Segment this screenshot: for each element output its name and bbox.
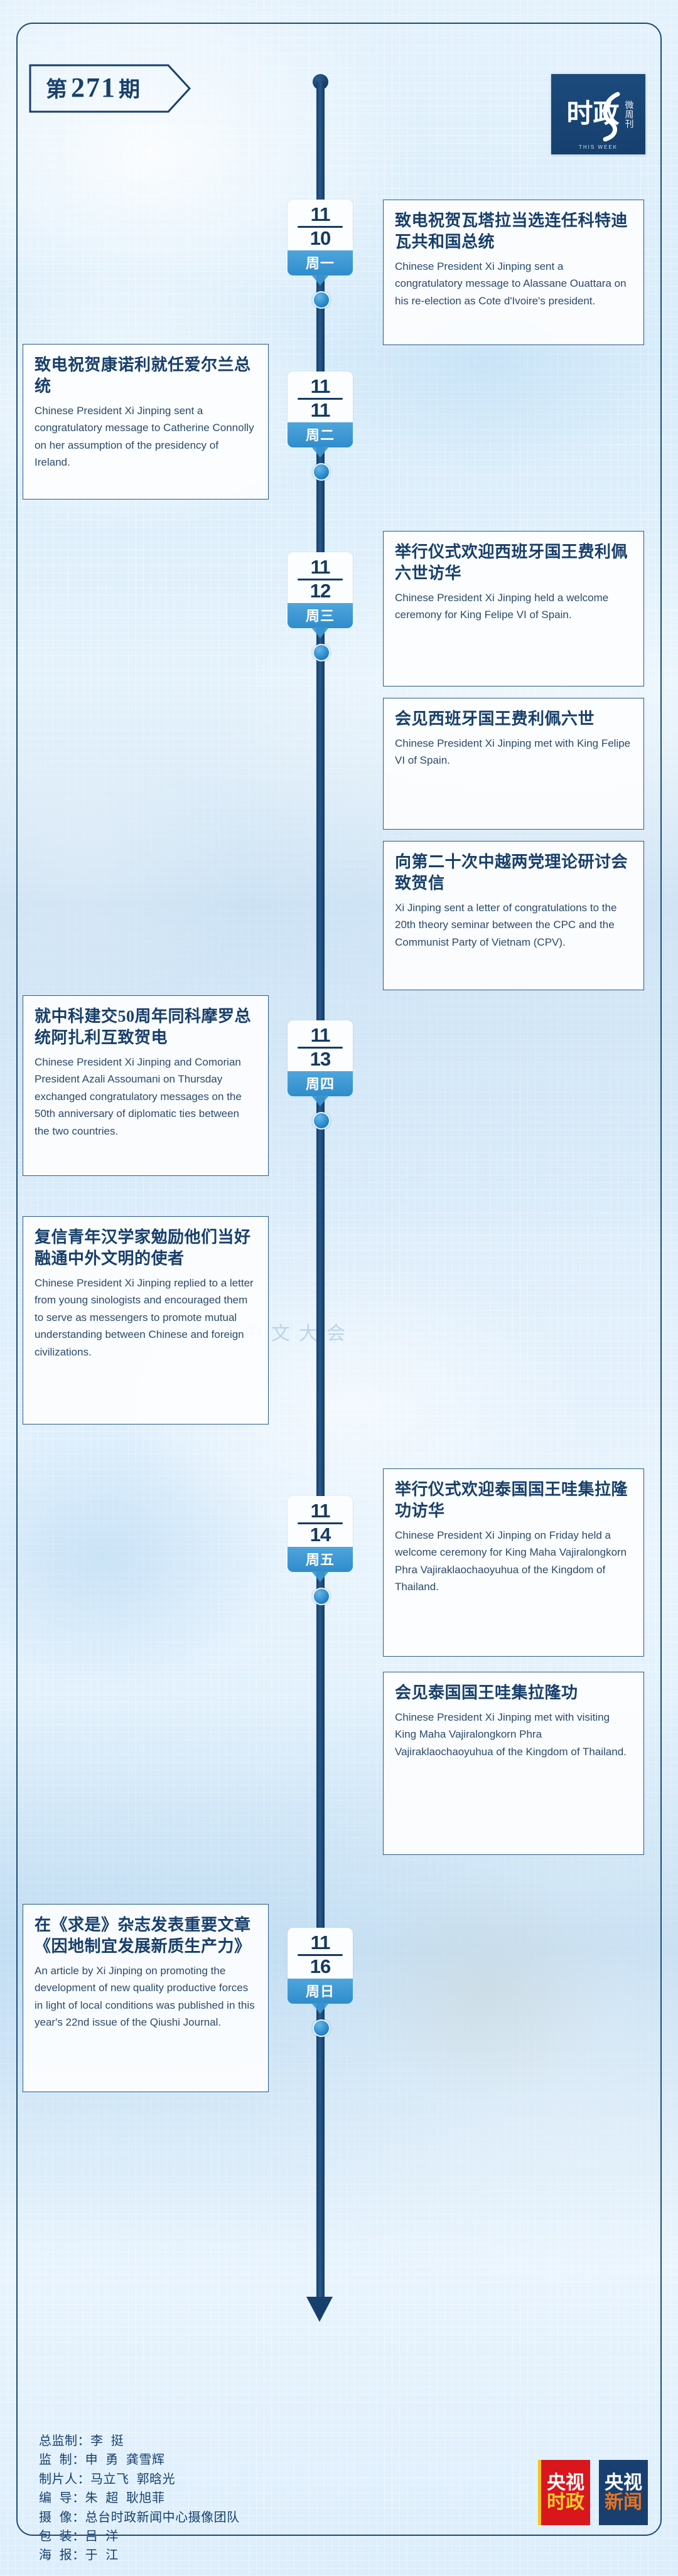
- event-description: Chinese President Xi Jinping on Friday h…: [395, 1527, 632, 1596]
- date-weekday: 周二: [288, 422, 353, 447]
- issue-tag-label: 第271期: [29, 64, 168, 110]
- timeline-node-dot: [313, 1112, 330, 1130]
- brand-logo-en-text: THIS WEEK: [551, 144, 645, 150]
- cctv-shizheng-line1: 央视: [547, 2473, 584, 2493]
- event-card[interactable]: 就中科建交50周年同科摩罗总统阿扎利互致贺电Chinese President …: [23, 995, 269, 1176]
- issue-tag: 第271期: [29, 64, 168, 110]
- event-description: Chinese President Xi Jinping replied to …: [35, 1275, 257, 1361]
- date-badge: 1116周日: [288, 1928, 353, 2004]
- date-badge-top: 1111: [288, 371, 353, 422]
- event-title: 就中科建交50周年同科摩罗总统阿扎利互致贺电: [35, 1006, 257, 1049]
- event-title: 会见泰国国王哇集拉隆功: [395, 1682, 632, 1704]
- event-description: Chinese President Xi Jinping held a welc…: [395, 589, 632, 624]
- date-month: 11: [294, 377, 347, 397]
- event-title: 会见西班牙国王费利佩六世: [395, 708, 632, 730]
- date-month: 11: [294, 557, 347, 577]
- event-description: Chinese President Xi Jinping met with vi…: [395, 1709, 632, 1761]
- date-badge-pointer-icon: [311, 2003, 329, 2014]
- event-title: 举行仪式欢迎西班牙国王费利佩六世访华: [395, 542, 632, 584]
- credit-line: 包 装：吕 洋: [39, 2527, 441, 2546]
- date-day: 13: [294, 1049, 347, 1069]
- event-title: 致电祝贺康诺利就任爱尔兰总统: [35, 355, 257, 397]
- issue-number: 271: [68, 72, 119, 104]
- date-badge-pointer-icon: [311, 447, 329, 457]
- date-day: 14: [294, 1525, 347, 1545]
- event-title: 复信青年汉学家勉励他们当好融通中外文明的使者: [35, 1227, 257, 1269]
- credit-line: 海 报：于 江: [39, 2546, 441, 2565]
- date-day: 10: [294, 228, 347, 249]
- credits-block: 总监制：李 挺监 制：申 勇 龚雪辉制片人：马立飞 郭晗光编 导：朱 超 耿旭菲…: [39, 2432, 441, 2565]
- credit-line: 总监制：李 挺: [39, 2432, 441, 2450]
- date-month: 11: [294, 205, 347, 225]
- date-badge-top: 1112: [288, 552, 353, 603]
- event-card[interactable]: 会见西班牙国王费利佩六世Chinese President Xi Jinping…: [383, 698, 644, 830]
- date-month: 11: [294, 1501, 347, 1521]
- date-badge-top: 1113: [288, 1020, 353, 1071]
- date-weekday: 周三: [288, 603, 353, 628]
- event-card[interactable]: 向第二十次中越两党理论研讨会致贺信Xi Jinping sent a lette…: [383, 841, 644, 990]
- brand-logo-main-text: 时政: [562, 102, 619, 127]
- brand-logo-side-text: 微周刊: [623, 100, 633, 129]
- credit-line: 制片人：马立飞 郭晗光: [39, 2470, 441, 2489]
- timeline-node-dot: [313, 463, 330, 481]
- event-description: Chinese President Xi Jinping sent a cong…: [395, 258, 632, 310]
- event-title: 举行仪式欢迎泰国国王哇集拉隆功访华: [395, 1479, 632, 1522]
- brand-logo: 时政 微周刊 THIS WEEK: [551, 74, 645, 154]
- cctv-xinwen-line2: 新闻: [605, 2493, 642, 2512]
- event-description: Chinese President Xi Jinping and Comoria…: [35, 1054, 257, 1140]
- cctv-xinwen-line1: 央视: [605, 2473, 642, 2493]
- date-badge-pointer-icon: [311, 1571, 329, 1582]
- date-weekday: 周日: [288, 1979, 353, 2004]
- event-title: 在《求是》杂志发表重要文章《因地制宜发展新质生产力》: [35, 1915, 257, 1957]
- event-description: Chinese President Xi Jinping sent a cong…: [35, 402, 257, 471]
- timeline-node-dot: [313, 291, 330, 309]
- issue-suffix: 期: [119, 72, 141, 103]
- date-day: 16: [294, 1957, 347, 1977]
- event-description: An article by Xi Jinping on promoting th…: [35, 1962, 257, 2031]
- date-badge: 1113周四: [288, 1020, 353, 1096]
- event-card[interactable]: 复信青年汉学家勉励他们当好融通中外文明的使者Chinese President …: [23, 1216, 269, 1424]
- date-day: 11: [294, 400, 347, 420]
- issue-prefix: 第: [46, 72, 68, 103]
- date-day: 12: [294, 581, 347, 601]
- timeline-node-dot: [313, 644, 330, 661]
- timeline-node-dot: [313, 2019, 330, 2037]
- event-card[interactable]: 举行仪式欢迎西班牙国王费利佩六世访华Chinese President Xi J…: [383, 531, 644, 687]
- cctv-xinwen-logo[interactable]: 央视 新闻: [599, 2460, 648, 2525]
- event-card[interactable]: 致电祝贺瓦塔拉当选连任科特迪瓦共和国总统Chinese President Xi…: [383, 200, 644, 345]
- event-description: Xi Jinping sent a letter of congratulati…: [395, 899, 632, 951]
- event-title: 向第二十次中越两党理论研讨会致贺信: [395, 852, 632, 894]
- event-description: Chinese President Xi Jinping met with Ki…: [395, 735, 632, 769]
- credit-line: 监 制：申 勇 龚雪辉: [39, 2450, 441, 2469]
- cctv-shizheng-line2: 时政: [547, 2493, 584, 2512]
- timeline-arrow-icon: [306, 2297, 333, 2322]
- event-card[interactable]: 举行仪式欢迎泰国国王哇集拉隆功访华Chinese President Xi Ji…: [383, 1468, 644, 1657]
- cctv-shizheng-logo[interactable]: 央视 时政: [541, 2460, 590, 2525]
- timeline-node-dot: [313, 1588, 330, 1605]
- date-badge: 1111周二: [288, 371, 353, 447]
- date-weekday: 周四: [288, 1071, 353, 1096]
- date-badge: 1114周五: [288, 1496, 353, 1572]
- date-badge-top: 1116: [288, 1928, 353, 1979]
- date-badge-top: 1114: [288, 1496, 353, 1547]
- event-card[interactable]: 致电祝贺康诺利就任爱尔兰总统Chinese President Xi Jinpi…: [23, 344, 269, 500]
- date-badge: 1110周一: [288, 200, 353, 275]
- credit-line: 编 导：朱 超 耿旭菲: [39, 2489, 441, 2508]
- event-card[interactable]: 会见泰国国王哇集拉隆功Chinese President Xi Jinping …: [383, 1672, 644, 1855]
- date-badge-pointer-icon: [311, 275, 329, 286]
- date-badge-pointer-icon: [311, 1096, 329, 1106]
- date-badge-top: 1110: [288, 200, 353, 250]
- poster-canvas: 世界中文大会 第271期 时政 微周刊 THIS WEEK 致电祝贺瓦塔拉当选连…: [0, 0, 678, 2576]
- credit-line: 摄 像：总台时政新闻中心摄像团队: [39, 2508, 441, 2527]
- date-month: 11: [294, 1025, 347, 1045]
- date-badge-pointer-icon: [311, 628, 329, 638]
- date-weekday: 周五: [288, 1547, 353, 1572]
- date-badge: 1112周三: [288, 552, 353, 628]
- date-month: 11: [294, 1933, 347, 1953]
- event-card[interactable]: 在《求是》杂志发表重要文章《因地制宜发展新质生产力》An article by …: [23, 1904, 269, 2092]
- date-weekday: 周一: [288, 250, 353, 275]
- event-title: 致电祝贺瓦塔拉当选连任科特迪瓦共和国总统: [395, 210, 632, 253]
- footer-logos: 央视 时政 央视 新闻: [541, 2460, 648, 2525]
